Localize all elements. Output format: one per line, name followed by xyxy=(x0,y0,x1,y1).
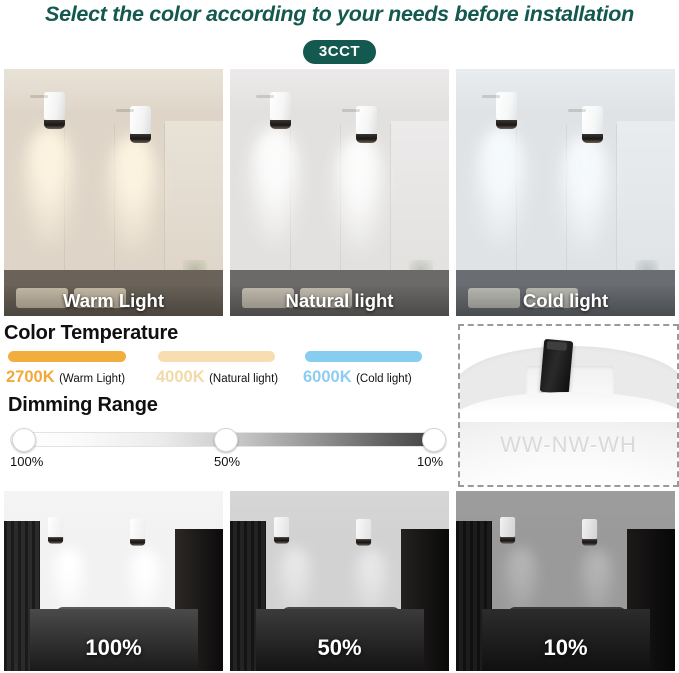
specs-panel: Color Temperature 2700K (Warm Light) 400… xyxy=(4,322,451,485)
dimming-label-50: 50% xyxy=(214,454,240,469)
photo-dimming-100: 100% xyxy=(4,491,223,671)
photo-caption: 50% xyxy=(230,625,449,671)
color-temperature-photo-row: Warm Light xyxy=(4,69,675,316)
lamp-body xyxy=(356,519,371,539)
ct-label-2700k: 2700K (Warm Light) xyxy=(6,368,125,387)
photo-caption: Cold light xyxy=(456,286,675,316)
spotlight-fixture xyxy=(582,106,603,143)
spotlight-fixture xyxy=(500,517,515,544)
color-bar-2700k xyxy=(8,351,126,362)
lamp-body xyxy=(274,517,289,537)
badge-container: 3CCT xyxy=(0,40,679,64)
photo-cold-light: Cold light xyxy=(456,69,675,316)
dimming-handle-10[interactable] xyxy=(422,428,446,452)
dimming-photo-row: 100% 50% xyxy=(4,491,675,671)
lamp-ring xyxy=(274,537,289,543)
spotlight-fixture xyxy=(44,92,65,129)
ceiling-mount xyxy=(482,95,500,98)
product-closeup-box: WW-NW-WH xyxy=(458,324,679,487)
cct-switch[interactable] xyxy=(540,339,574,394)
photo-caption: Natural light xyxy=(230,286,449,316)
spotlight-fixture xyxy=(48,517,63,544)
photo-caption: Warm Light xyxy=(4,286,223,316)
ct-name: (Natural light) xyxy=(209,373,278,385)
lamp-ring xyxy=(48,537,63,543)
dimming-range-title: Dimming Range xyxy=(8,394,158,417)
photo-natural-light: Natural light xyxy=(230,69,449,316)
lamp-ring xyxy=(130,539,145,545)
lamp-ring xyxy=(356,539,371,545)
page-title: Select the color according to your needs… xyxy=(0,2,679,27)
status-badge: 3CCT xyxy=(303,40,376,64)
dimming-handle-100[interactable] xyxy=(12,428,36,452)
ct-label-4000k: 4000K (Natural light) xyxy=(156,368,278,387)
photo-caption: 10% xyxy=(456,625,675,671)
ceiling-mount xyxy=(30,95,48,98)
lamp-body xyxy=(582,519,597,539)
dimming-label-10: 10% xyxy=(417,454,443,469)
spotlight-fixture xyxy=(356,106,377,143)
ct-kelvin: 4000K xyxy=(156,368,205,386)
ct-kelvin: 2700K xyxy=(6,368,55,386)
ct-label-6000k: 6000K (Cold light) xyxy=(303,368,412,387)
color-bar-6000k xyxy=(305,351,422,362)
lamp-body xyxy=(130,519,145,539)
scene-cold xyxy=(456,69,675,316)
product-infographic: Select the color according to your needs… xyxy=(0,0,679,673)
ceiling-mount xyxy=(568,109,586,112)
ct-kelvin: 6000K xyxy=(303,368,352,386)
photo-dimming-50: 50% xyxy=(230,491,449,671)
spotlight-fixture xyxy=(274,517,289,544)
spotlight-fixture xyxy=(130,106,151,143)
lamp-body xyxy=(48,517,63,537)
lamp-ring xyxy=(582,539,597,545)
color-bar-4000k xyxy=(158,351,275,362)
color-temperature-bars xyxy=(8,351,451,363)
lamp-ring xyxy=(356,134,377,143)
scene-natural xyxy=(230,69,449,316)
wall-seam xyxy=(616,124,617,284)
spotlight-fixture xyxy=(130,519,145,546)
ceiling-mount xyxy=(256,95,274,98)
lamp-ring xyxy=(130,134,151,143)
spotlight-fixture xyxy=(270,92,291,129)
spotlight-fixture xyxy=(496,92,517,129)
lamp-ring xyxy=(582,134,603,143)
lamp-ring xyxy=(496,120,517,129)
wall-seam xyxy=(164,124,165,284)
photo-dimming-10: 10% xyxy=(456,491,675,671)
dimming-handle-50[interactable] xyxy=(214,428,238,452)
color-temperature-title: Color Temperature xyxy=(4,322,451,345)
lamp-ring xyxy=(500,537,515,543)
lamp-body xyxy=(500,517,515,537)
wall-seam xyxy=(390,124,391,284)
lamp-ring xyxy=(44,120,65,129)
spotlight-fixture xyxy=(582,519,597,546)
color-temperature-labels: 2700K (Warm Light) 4000K (Natural light)… xyxy=(4,368,451,390)
ct-name: (Cold light) xyxy=(356,373,412,385)
photo-caption: 100% xyxy=(4,625,223,671)
ceiling-mount xyxy=(342,109,360,112)
scene-warm xyxy=(4,69,223,316)
dimming-label-100: 100% xyxy=(10,454,43,469)
product-switch-label: WW-NW-WH xyxy=(460,432,677,458)
ct-name: (Warm Light) xyxy=(59,373,125,385)
ceiling-mount xyxy=(116,109,134,112)
lamp-ring xyxy=(270,120,291,129)
photo-warm-light: Warm Light xyxy=(4,69,223,316)
spotlight-fixture xyxy=(356,519,371,546)
